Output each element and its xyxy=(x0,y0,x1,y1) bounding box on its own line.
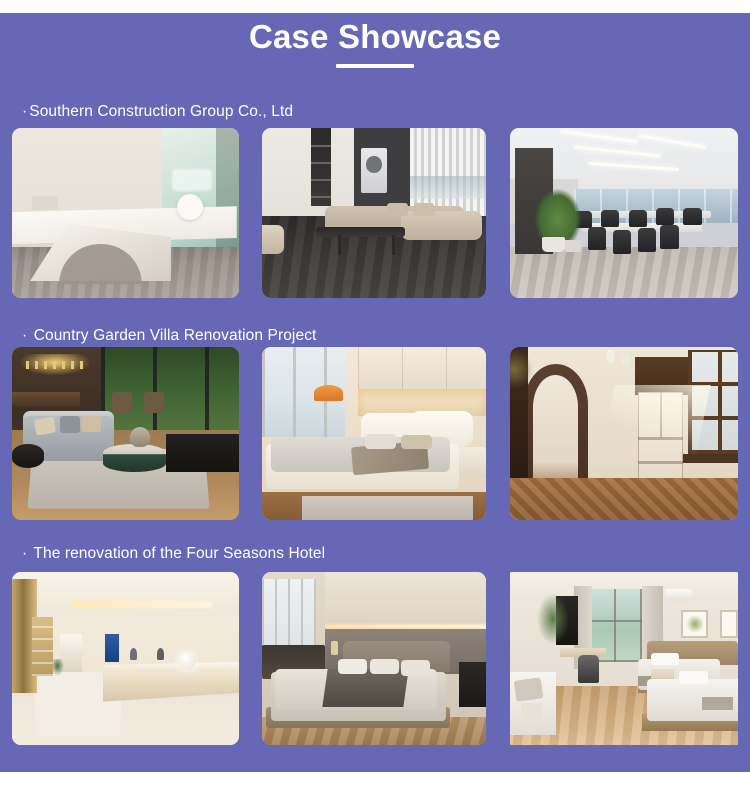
section-label-country-garden-villa: · Country Garden Villa Renovation Projec… xyxy=(22,327,316,345)
gallery-row-3 xyxy=(0,572,750,745)
page-title: Case Showcase xyxy=(0,16,750,58)
bullet-icon: · xyxy=(22,545,27,562)
case-showcase-page: Case Showcase ·Southern Construction Gro… xyxy=(0,0,750,792)
gallery-row-1 xyxy=(0,128,750,298)
gallery-image-1[interactable] xyxy=(12,128,239,298)
section-label-text: Country Garden Villa Renovation Project xyxy=(34,327,317,344)
gallery-image-5[interactable] xyxy=(262,347,486,520)
page-header: Case Showcase xyxy=(0,16,750,68)
bullet-icon: · xyxy=(22,103,27,120)
title-underline-rule xyxy=(336,64,414,68)
section-label-four-seasons-hotel: · The renovation of the Four Seasons Hot… xyxy=(22,545,325,563)
bullet-icon: · xyxy=(22,327,27,344)
gallery-image-2[interactable] xyxy=(262,128,486,298)
gallery-image-8[interactable] xyxy=(262,572,486,745)
gallery-image-3[interactable] xyxy=(510,128,738,298)
gallery-image-9[interactable] xyxy=(510,572,738,745)
gallery-row-2 xyxy=(0,347,750,520)
section-label-text: Southern Construction Group Co., Ltd xyxy=(29,103,293,120)
gallery-image-4[interactable] xyxy=(12,347,239,520)
gallery-image-7[interactable] xyxy=(12,572,239,745)
section-label-text: The renovation of the Four Seasons Hotel xyxy=(33,545,325,562)
section-label-southern-construction: ·Southern Construction Group Co., Ltd xyxy=(22,103,293,121)
gallery-image-6[interactable] xyxy=(510,347,738,520)
